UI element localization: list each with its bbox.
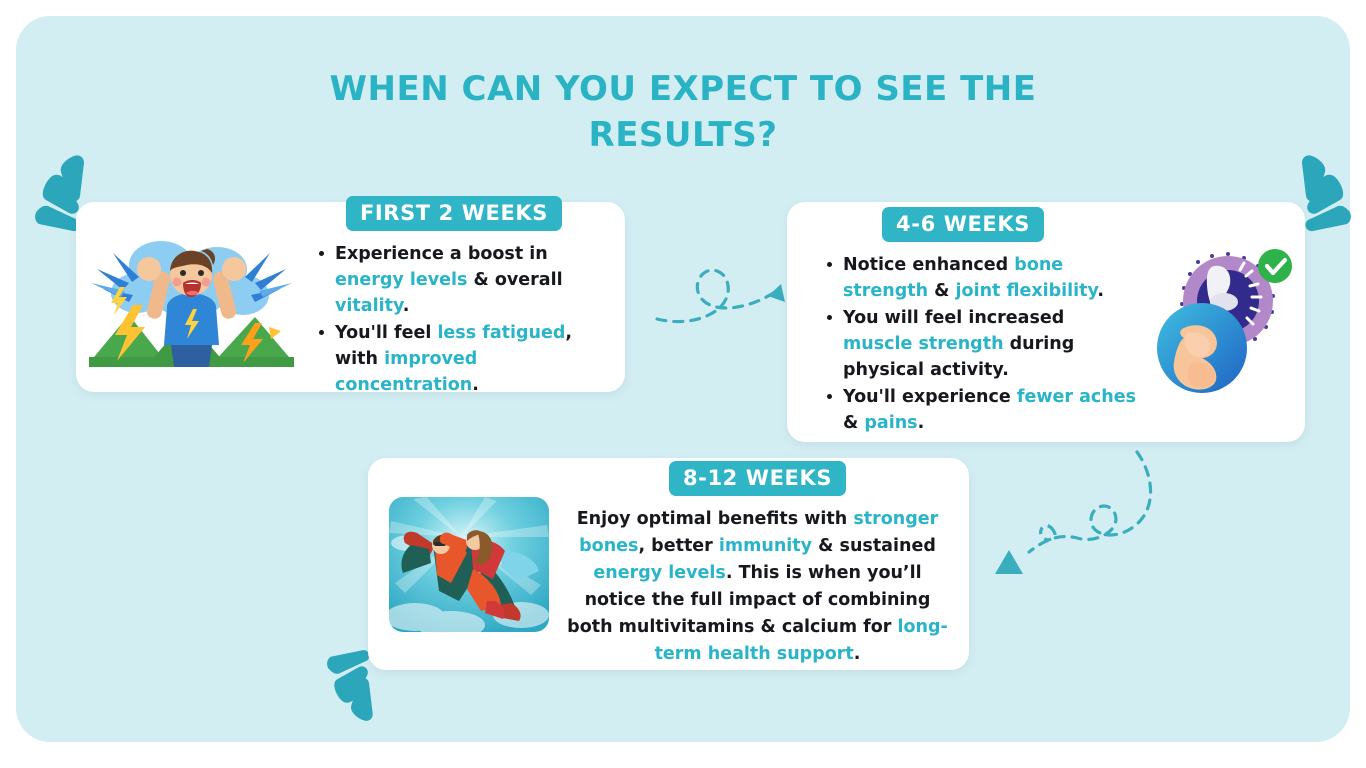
body-text: & bbox=[928, 281, 955, 301]
card-8-12-weeks: 8-12 WEEKS Enjoy optimal benefits with s… bbox=[368, 458, 969, 670]
cheering-boy-with-lightning-icon bbox=[89, 227, 294, 367]
body-text: You'll feel bbox=[335, 323, 437, 343]
body-text: Enjoy optimal benefits with bbox=[577, 509, 854, 529]
card-3-art bbox=[384, 497, 554, 632]
card-1-badge: FIRST 2 WEEKS bbox=[346, 196, 562, 231]
body-text: . bbox=[1097, 281, 1104, 301]
body-text: You will feel increased bbox=[843, 308, 1064, 328]
card-1-bullets: Experience a boost in energy levels & ov… bbox=[299, 241, 609, 399]
dashed-arrow-right-icon bbox=[655, 262, 805, 334]
list-item: You'll feel less fatigued, with improved… bbox=[319, 320, 609, 398]
card-2-badge-row: 4-6 WEEKS bbox=[807, 207, 1139, 242]
list-item: You'll experience fewer aches & pains. bbox=[827, 384, 1139, 436]
body-text: Notice enhanced bbox=[843, 255, 1014, 275]
highlight-text: vitality bbox=[335, 296, 403, 316]
body-text: . bbox=[918, 413, 925, 433]
highlight-text: pains bbox=[864, 413, 917, 433]
card-4-6-weeks: 4-6 WEEKS Notice enhanced bone strength … bbox=[787, 202, 1305, 442]
card-first-2-weeks: FIRST 2 WEEKS Experience a boost in ener… bbox=[76, 202, 625, 392]
card-2-art bbox=[1139, 242, 1299, 402]
flying-superheroes-icon bbox=[389, 497, 549, 632]
infographic-canvas: WHEN CAN YOU EXPECT TO SEE THE RESULTS? bbox=[0, 0, 1366, 768]
highlight-text: energy levels bbox=[335, 270, 467, 290]
page-title: WHEN CAN YOU EXPECT TO SEE THE RESULTS? bbox=[313, 66, 1053, 158]
body-text: & sustained bbox=[812, 536, 936, 556]
list-item: Experience a boost in energy levels & ov… bbox=[319, 241, 609, 319]
card-3-body: 8-12 WEEKS Enjoy optimal benefits with s… bbox=[554, 461, 969, 668]
card-1-badge-row: FIRST 2 WEEKS bbox=[299, 196, 609, 231]
card-3-paragraph: Enjoy optimal benefits with stronger bon… bbox=[564, 506, 951, 668]
highlight-text: energy levels bbox=[593, 563, 725, 583]
body-text: You'll experience bbox=[843, 387, 1017, 407]
highlight-text: fewer aches bbox=[1017, 387, 1136, 407]
body-text: . bbox=[403, 296, 410, 316]
card-3-badge: 8-12 WEEKS bbox=[669, 461, 846, 496]
card-2-badge: 4-6 WEEKS bbox=[882, 207, 1044, 242]
list-item: Notice enhanced bone strength & joint fl… bbox=[827, 252, 1139, 304]
body-text: & bbox=[843, 413, 864, 433]
knee-joint-and-bicep-icon bbox=[1140, 242, 1298, 402]
card-1-art bbox=[84, 227, 299, 367]
highlight-text: less fatigued bbox=[437, 323, 565, 343]
body-text: & overall bbox=[467, 270, 562, 290]
card-1-body: FIRST 2 WEEKS Experience a boost in ener… bbox=[299, 196, 625, 399]
body-text: , better bbox=[638, 536, 718, 556]
list-item: You will feel increased muscle strength … bbox=[827, 305, 1139, 383]
card-2-bullets: Notice enhanced bone strength & joint fl… bbox=[807, 252, 1139, 437]
body-text: Experience a boost in bbox=[335, 244, 548, 264]
card-3-badge-row: 8-12 WEEKS bbox=[564, 461, 951, 496]
highlight-text: joint flexibility bbox=[956, 281, 1098, 301]
body-text: . bbox=[854, 644, 861, 664]
dashed-arrow-down-left-icon bbox=[985, 438, 1175, 594]
body-text: . bbox=[472, 375, 479, 395]
highlight-text: immunity bbox=[719, 536, 812, 556]
highlight-text: muscle strength bbox=[843, 334, 1004, 354]
card-2-body: 4-6 WEEKS Notice enhanced bone strength … bbox=[787, 207, 1139, 437]
